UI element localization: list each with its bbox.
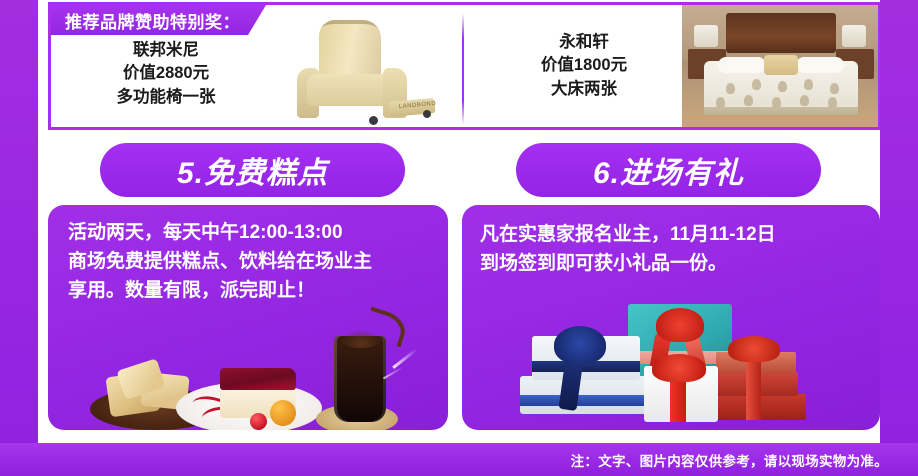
duvet-motif (744, 95, 753, 106)
red-box-band (746, 352, 761, 420)
recliner-chair-photo: LANDBOND (273, 18, 441, 130)
pillow-right (796, 57, 844, 73)
prize-1-text: 联邦米尼 价值2880元 多功能椅一张 (73, 39, 259, 109)
prize-1-value: 价值2880元 (73, 62, 259, 85)
red-box-bow (728, 336, 780, 362)
bedroom-floor (682, 115, 878, 127)
chair-wheel-rear (423, 110, 431, 118)
lamp-right (842, 25, 866, 47)
red-bow (656, 308, 704, 342)
promo-banner-page: 推荐品牌赞助特别奖： 联邦米尼 价值2880元 多功能椅一张 LANDBOND (0, 0, 918, 476)
prize-item-1: 联邦米尼 价值2880元 多功能椅一张 LANDBOND (51, 5, 462, 127)
section-pill-5: 5.免费糕点 (100, 143, 405, 197)
footer-disclaimer-bar: 注：文字、图片内容仅供参考，请以现场实物为准。 (0, 443, 918, 476)
prize-1-brand: 联邦米尼 (73, 39, 259, 62)
section-pill-6: 6.进场有礼 (516, 143, 821, 197)
section-pill-5-label: 5.免费糕点 (177, 148, 328, 192)
blue-ribbon-band (520, 395, 646, 406)
duvet-motif (804, 79, 813, 90)
right-purple-rail (880, 0, 918, 476)
pillow-left (718, 57, 766, 73)
prize-2-item: 大床两张 (494, 78, 674, 101)
section-pill-6-label: 6.进场有礼 (593, 148, 744, 192)
cherry-garnish (250, 413, 267, 430)
prize-1-item: 多功能椅一张 (73, 86, 259, 109)
duvet-motif (752, 79, 761, 90)
footer-note: 注：文字、图片内容仅供参考，请以现场实物为准。 (571, 450, 888, 470)
blue-bow (554, 326, 606, 364)
cola-glass (334, 336, 386, 422)
prize-2-value: 价值1800元 (494, 54, 674, 77)
white-box-bow (652, 354, 706, 382)
chair-wheel-front (369, 116, 378, 125)
desserts-and-drink-photo (90, 306, 420, 430)
left-purple-rail (0, 0, 38, 476)
section-5-body: 活动两天，每天中午12:00-13:00 商场免费提供糕点、饮料给在场业主 享用… (68, 219, 434, 306)
cherry-topping (220, 368, 296, 390)
duvet-motif (800, 95, 809, 106)
bedroom-bed-photo (682, 5, 878, 127)
bed-headboard (726, 13, 836, 53)
section-6-body: 凡在实惠家报名业主，11月11-12日 到场签到即可获小礼品一份。 (480, 221, 866, 279)
prize-2-brand: 永和轩 (494, 31, 674, 54)
duvet-motif (778, 81, 787, 92)
duvet-motif (830, 83, 839, 94)
prize-item-2: 永和轩 价值1800元 大床两张 (464, 5, 880, 127)
lamp-left (694, 25, 718, 47)
prize-2-text: 永和轩 价值1800元 大床两张 (494, 31, 674, 101)
sponsor-prize-box: 推荐品牌赞助特别奖： 联邦米尼 价值2880元 多功能椅一张 LANDBOND (48, 2, 880, 130)
gift-boxes-photo (510, 292, 840, 428)
section-card-5: 活动两天，每天中午12:00-13:00 商场免费提供糕点、饮料给在场业主 享用… (48, 205, 448, 430)
duvet-motif (726, 83, 735, 94)
sparkle-streak (392, 348, 417, 369)
section-card-6: 凡在实惠家报名业主，11月11-12日 到场签到即可获小礼品一份。 (462, 205, 880, 430)
accent-cushion (764, 55, 798, 75)
orange-garnish (270, 400, 296, 426)
